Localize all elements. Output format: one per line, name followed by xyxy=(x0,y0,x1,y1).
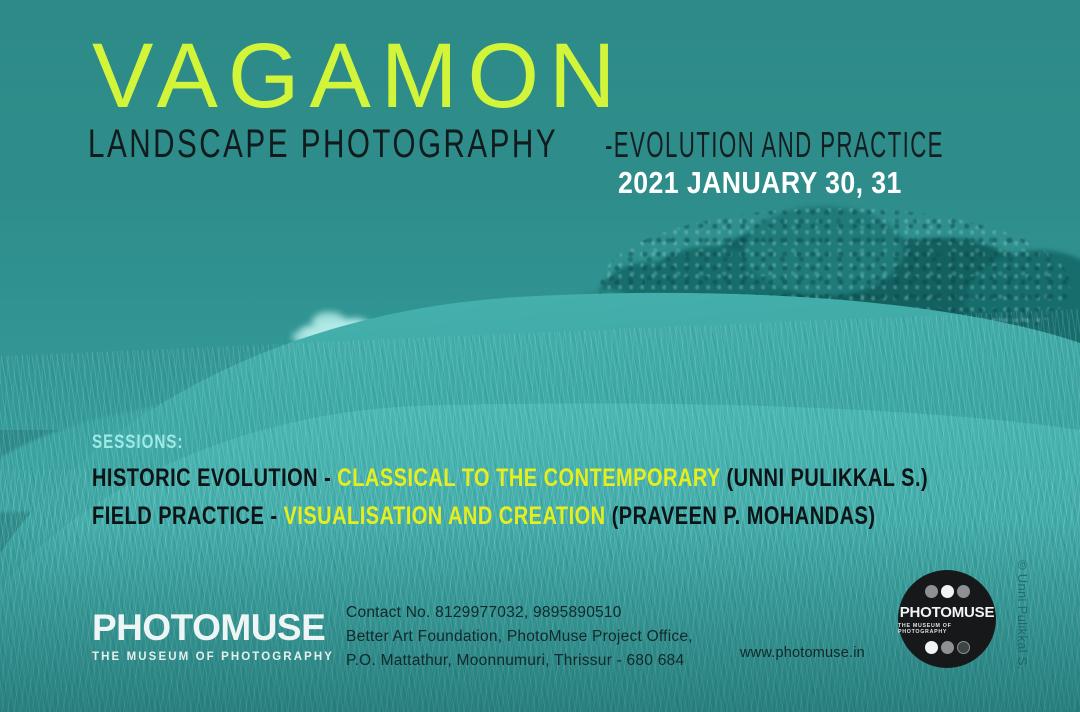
circle-icon xyxy=(957,585,970,598)
logo-wordmark-name: PHOTOMUSE xyxy=(92,609,334,646)
contact-info: Contact No. 8129977032, 9895890510 Bette… xyxy=(346,601,693,673)
subtitle-main: LANDSCAPE PHOTOGRAPHY xyxy=(88,124,558,164)
contact-org-line: Better Art Foundation, PhotoMuse Project… xyxy=(346,625,693,649)
page-title: VAGAMON xyxy=(92,34,625,119)
logo-wordmark-tagline: THE MUSEUM OF PHOTOGRAPHY xyxy=(92,651,334,663)
session-presenter: (UNNI PULIKKAL S.) xyxy=(721,464,929,492)
photo-credit: © Unni Pulikkal S. xyxy=(1015,560,1030,670)
event-date: 2021 JANUARY 30, 31 xyxy=(618,165,902,201)
subtitle-secondary: -EVOLUTION AND PRACTICE xyxy=(605,127,944,163)
session-topic: HISTORIC EVOLUTION - xyxy=(92,464,337,492)
contact-address-line: P.O. Mattathur, Moonnumuri, Thrissur - 6… xyxy=(346,649,693,673)
photomuse-logo: PHOTOMUSE THE MUSEUM OF PHOTOGRAPHY xyxy=(92,609,334,663)
sessions-label: SESSIONS: xyxy=(92,432,928,454)
circle-icon xyxy=(941,585,954,598)
photomuse-badge: PHOTOMUSE THE MUSEUM OF PHOTOGRAPHY xyxy=(898,570,996,668)
session-item: FIELD PRACTICE - VISUALISATION AND CREAT… xyxy=(92,502,928,531)
circle-icon xyxy=(957,641,970,654)
session-highlight: VISUALISATION AND CREATION xyxy=(284,502,606,530)
subtitle: LANDSCAPE PHOTOGRAPHY-EVOLUTION AND PRAC… xyxy=(88,124,1080,164)
session-highlight: CLASSICAL TO THE CONTEMPORARY xyxy=(337,464,720,492)
session-topic: FIELD PRACTICE - xyxy=(92,502,284,530)
badge-name: PHOTOMUSE xyxy=(900,604,995,621)
session-presenter: (PRAVEEN P. MOHANDAS) xyxy=(606,502,876,530)
contact-phone-line: Contact No. 8129977032, 9895890510 xyxy=(346,601,693,625)
badge-dots-bottom xyxy=(925,641,970,654)
circle-icon xyxy=(941,641,954,654)
circle-icon xyxy=(925,641,938,654)
poster-canvas: VAGAMON LANDSCAPE PHOTOGRAPHY-EVOLUTION … xyxy=(0,0,1080,712)
sessions-block: SESSIONS: HISTORIC EVOLUTION - CLASSICAL… xyxy=(92,432,1080,540)
badge-tagline: THE MUSEUM OF PHOTOGRAPHY xyxy=(898,623,996,635)
session-item: HISTORIC EVOLUTION - CLASSICAL TO THE CO… xyxy=(92,464,928,493)
badge-dots-top xyxy=(925,585,970,598)
circle-icon xyxy=(925,585,938,598)
website-link[interactable]: www.photomuse.in xyxy=(740,645,865,661)
